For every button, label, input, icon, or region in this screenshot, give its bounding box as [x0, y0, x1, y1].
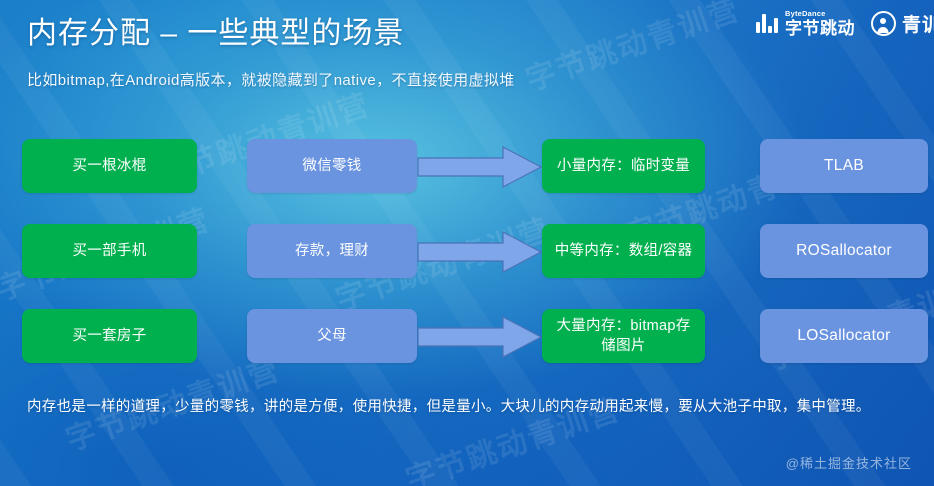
- scenario-box[interactable]: 买一部手机: [22, 224, 197, 278]
- memory-box[interactable]: 中等内存：数组/容器: [542, 224, 705, 278]
- memory-box[interactable]: 大量内存：bitmap存储图片: [542, 309, 705, 363]
- source-box[interactable]: 存款，理财: [247, 224, 417, 278]
- source-box[interactable]: 父母: [247, 309, 417, 363]
- source-box[interactable]: 微信零钱: [247, 139, 417, 193]
- allocator-box[interactable]: TLAB: [760, 139, 928, 193]
- allocator-box[interactable]: LOSallocator: [760, 309, 928, 363]
- allocator-box[interactable]: ROSallocator: [760, 224, 928, 278]
- slide: 字节跳动青训营 字节跳动青训营 字节跳动青训营 字节跳动青训营 字节跳动青训营 …: [0, 0, 934, 486]
- scenario-box[interactable]: 买一套房子: [22, 309, 197, 363]
- community-watermark: @稀土掘金技术社区: [786, 453, 912, 472]
- right-arrow-icon: [417, 316, 542, 358]
- scenario-box[interactable]: 买一根冰棍: [22, 139, 197, 193]
- summary-note: 内存也是一样的道理，少量的零钱，讲的是方便，使用快捷，但是量小。大块儿的内存动用…: [27, 392, 911, 422]
- memory-box[interactable]: 小量内存：临时变量: [542, 139, 705, 193]
- right-arrow-icon: [417, 146, 542, 188]
- right-arrow-icon: [417, 231, 542, 273]
